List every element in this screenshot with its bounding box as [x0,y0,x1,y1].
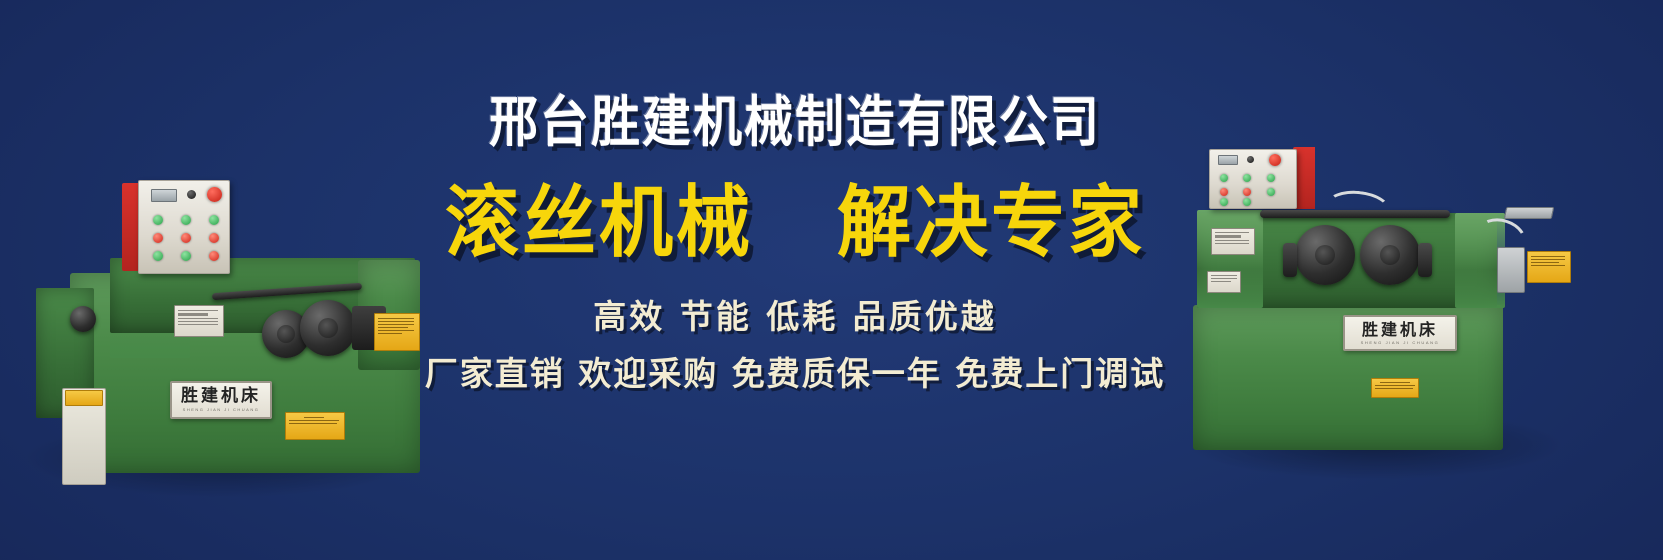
panel-button[interactable] [1243,188,1251,196]
panel-button[interactable] [1220,174,1228,182]
panel-button[interactable] [1267,188,1275,196]
panel-button[interactable] [1243,198,1251,206]
control-panel[interactable] [138,180,230,274]
specification-plate [1207,271,1241,293]
panel-button[interactable] [1243,174,1251,182]
panel-button[interactable] [1220,188,1228,196]
headline-left: 滚丝机械 [445,184,753,262]
promotional-banner: 胜建机床 SHENG JIAN JI CHUANG [0,0,1663,560]
thread-rolling-machine-left: 胜建机床 SHENG JIAN JI CHUANG [22,88,422,483]
specification-plate [1211,228,1255,255]
selector-knob-icon[interactable] [187,190,196,199]
panel-button[interactable] [209,215,219,225]
roller-die-left [1295,225,1355,285]
thread-rolling-machine-right: 胜建机床 SHENG JIAN JI CHUANG [1175,125,1570,455]
panel-button[interactable] [209,251,219,261]
die-holder-right [1418,243,1432,277]
selector-knob-icon[interactable] [1247,156,1254,163]
emergency-stop-button[interactable] [207,187,222,202]
panel-button[interactable] [209,233,219,243]
panel-display [1218,155,1238,165]
panel-button[interactable] [1220,198,1228,206]
banner-text-block: 邢台胜建机械制造有限公司 滚丝机械 解决专家 高效 节能 低耗 品质优越 厂家直… [380,95,1210,435]
brand-name-pinyin: SHENG JIAN JI CHUANG [183,408,260,412]
brand-name-pinyin: SHENG JIAN JI CHUANG [1361,341,1440,345]
specification-plate [174,305,224,337]
brand-nameplate: 胜建机床 SHENG JIAN JI CHUANG [170,381,272,419]
panel-button[interactable] [181,233,191,243]
control-panel[interactable] [1209,149,1297,209]
panel-display [151,189,177,202]
subtitle-line-1: 高效 节能 低耗 品质优越 [380,300,1210,333]
panel-button[interactable] [153,215,163,225]
subtitle-line-2: 厂家直销 欢迎采购 免费质保一年 免费上门调试 [380,357,1210,390]
panel-button[interactable] [153,251,163,261]
cabinet-label [65,390,103,406]
headline-right: 解决专家 [837,184,1145,262]
roller-die-right [1360,225,1420,285]
brand-nameplate: 胜建机床 SHENG JIAN JI CHUANG [1343,315,1457,351]
roller-die-right [300,300,356,356]
feed-tray [1504,207,1555,219]
headline: 滚丝机械 解决专家 [380,186,1210,260]
warning-label [1371,378,1419,398]
die-holder-left [1283,243,1297,277]
panel-button[interactable] [153,233,163,243]
warning-label [1527,251,1571,283]
warning-label [285,412,345,440]
emergency-stop-button[interactable] [1269,154,1281,166]
panel-button[interactable] [1267,174,1275,182]
end-spindle [70,306,96,332]
brand-name-cn: 胜建机床 [181,388,261,405]
brand-name-cn: 胜建机床 [1362,322,1438,338]
control-panel-side [122,183,138,271]
company-name: 邢台胜建机械制造有限公司 [380,95,1210,150]
panel-button[interactable] [181,215,191,225]
panel-button[interactable] [181,251,191,261]
